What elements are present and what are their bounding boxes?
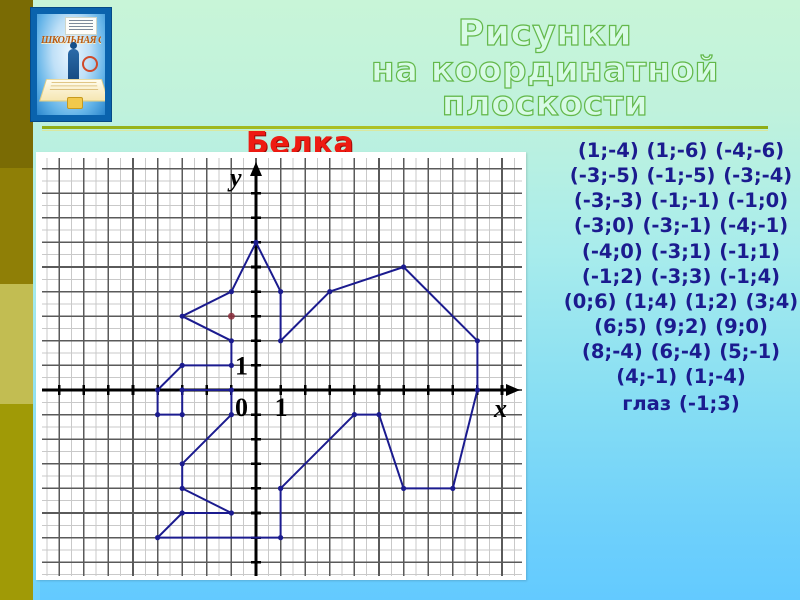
left-bar-segment-1 — [0, 0, 33, 168]
svg-text:у: у — [227, 163, 242, 192]
book-cover-image: ШКОЛЬНАЯ СКАЗКА — [31, 8, 111, 121]
book-note-icon — [65, 17, 97, 35]
page-title: Рисунки на координатной плоскости — [300, 16, 790, 122]
coordinates-text: (1;-4) (1;-6) (-4;-6) (-3;-5) (-1;-5) (-… — [564, 139, 798, 388]
svg-text:1: 1 — [275, 393, 288, 422]
book-cover-inner: ШКОЛЬНАЯ СКАЗКА — [37, 14, 105, 115]
svg-text:х: х — [493, 394, 507, 423]
slide-canvas: ШКОЛЬНАЯ СКАЗКА Рисунки на координатной … — [0, 0, 800, 600]
coordinate-plane-svg: ух011 — [42, 158, 522, 576]
coordinate-plane-panel: ух011 — [36, 152, 526, 580]
left-decorative-bar — [0, 0, 33, 600]
left-bar-segment-4 — [0, 404, 33, 600]
svg-text:0: 0 — [235, 393, 248, 422]
book-stamp-icon — [82, 56, 98, 72]
plot-area: ух011 — [42, 158, 522, 576]
book-badge-icon — [67, 97, 83, 109]
svg-text:1: 1 — [235, 351, 248, 380]
coordinates-list: (1;-4) (1;-6) (-4;-6) (-3;-5) (-1;-5) (-… — [562, 138, 800, 417]
eye-coordinate-label: глаз (-1;3) — [562, 391, 800, 416]
book-figure-icon — [68, 49, 79, 83]
page-title-line-1: Рисунки — [458, 13, 632, 54]
left-bar-segment-2 — [0, 168, 33, 284]
left-bar-segment-3 — [0, 284, 33, 404]
page-title-line-2: на координатной плоскости — [300, 53, 790, 122]
